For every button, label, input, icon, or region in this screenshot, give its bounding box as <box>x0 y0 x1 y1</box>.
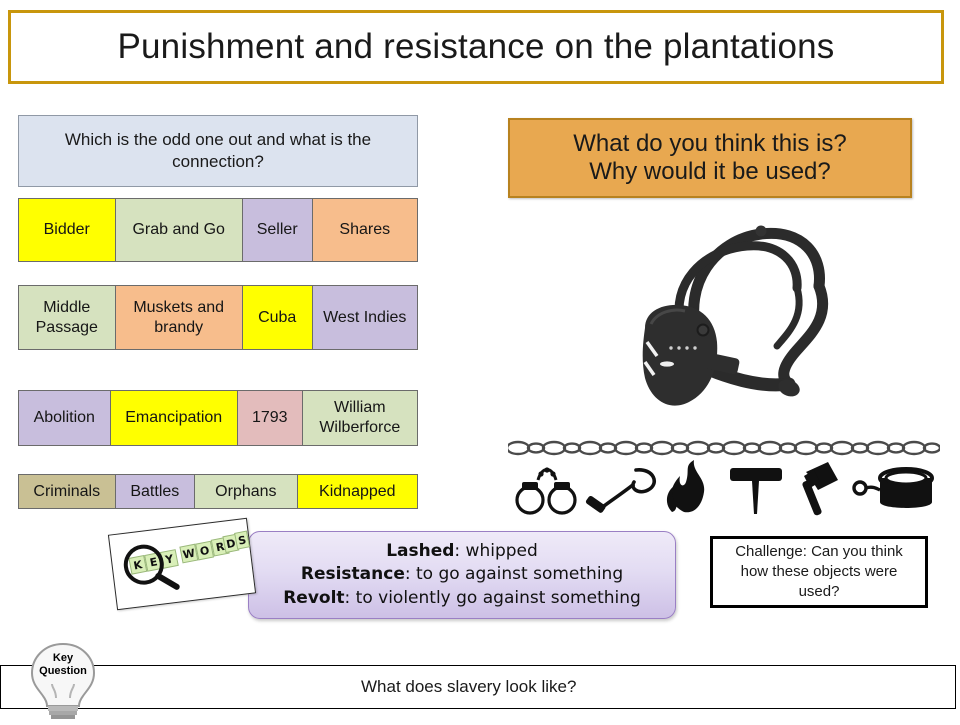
word-cell[interactable]: Middle Passage <box>19 286 116 349</box>
flame-icon <box>667 460 704 512</box>
key-question-badge-line-1: Key <box>26 652 100 665</box>
punishment-objects-row <box>508 458 940 518</box>
artifact-prompt-box: What do you think this is? Why would it … <box>508 118 912 198</box>
iron-slave-mask-photo <box>575 212 905 437</box>
challenge-text: Challenge: Can you think how these objec… <box>721 542 917 601</box>
word-cell[interactable]: Cuba <box>243 286 313 349</box>
keyword-entry-3: Revolt: to violently go against somethin… <box>283 587 641 610</box>
word-grid-row-4: CriminalsBattlesOrphansKidnapped <box>18 474 418 509</box>
key-question-footer-bar: What does slavery look like? <box>0 665 956 709</box>
word-cell[interactable]: Kidnapped <box>298 475 417 508</box>
word-cell[interactable]: Abolition <box>19 391 111 445</box>
svg-text:W: W <box>182 547 196 562</box>
word-cell[interactable]: 1793 <box>238 391 303 445</box>
whip-icon <box>585 470 654 514</box>
key-question-badge: Key Question <box>26 652 100 677</box>
word-cell[interactable]: West Indies <box>313 286 417 349</box>
key-words-definitions-box: Lashed: whipped Resistance: to go agains… <box>248 531 676 619</box>
keyword-term-3: Revolt <box>283 588 344 608</box>
branding-iron-icon <box>730 468 782 514</box>
odd-one-out-question-text: Which is the odd one out and what is the… <box>33 129 403 173</box>
letter-tiles: K E Y W O R D <box>127 531 251 574</box>
key-question-text: What does slavery look like? <box>361 677 576 697</box>
chain-divider <box>508 437 940 459</box>
keyword-definition-3: : to violently go against something <box>345 588 641 608</box>
keyword-entry-2: Resistance: to go against something <box>301 563 623 586</box>
handcuffs-icon <box>517 467 575 513</box>
key-question-badge-line-2: Question <box>26 665 100 678</box>
word-grid-row-1: BidderGrab and GoSellerShares <box>18 198 418 262</box>
word-grid-row-3: AbolitionEmancipation1793William Wilberf… <box>18 390 418 446</box>
key-words-card: K E Y W O R D <box>108 518 256 610</box>
slide-canvas: Punishment and resistance on the plantat… <box>0 0 960 720</box>
word-cell[interactable]: Muskets and brandy <box>116 286 243 349</box>
odd-one-out-question-box: Which is the odd one out and what is the… <box>18 115 418 187</box>
word-cell[interactable]: Battles <box>116 475 196 508</box>
keyword-term-2: Resistance <box>301 564 405 584</box>
word-cell[interactable]: Shares <box>313 199 417 261</box>
word-grid-row-2: Middle PassageMuskets and brandyCubaWest… <box>18 285 418 350</box>
word-cell[interactable]: Criminals <box>19 475 116 508</box>
word-cell[interactable]: William Wilberforce <box>303 391 417 445</box>
challenge-box: Challenge: Can you think how these objec… <box>710 536 928 608</box>
keyword-definition-2: : to go against something <box>405 564 623 584</box>
page-title: Punishment and resistance on the plantat… <box>117 27 834 67</box>
word-cell[interactable]: Orphans <box>195 475 297 508</box>
keyword-definition-1: : whipped <box>454 541 537 561</box>
word-cell[interactable]: Grab and Go <box>116 199 243 261</box>
word-cell[interactable]: Emancipation <box>111 391 238 445</box>
artifact-prompt-line-1: What do you think this is? <box>573 130 846 158</box>
keyword-entry-1: Lashed: whipped <box>386 540 538 563</box>
slide-title-box: Punishment and resistance on the plantat… <box>8 10 944 84</box>
shackle-icon <box>854 469 932 508</box>
keyword-term-1: Lashed <box>386 541 454 561</box>
artifact-prompt-line-2: Why would it be used? <box>589 158 830 186</box>
axe-icon <box>802 462 838 516</box>
word-cell[interactable]: Seller <box>243 199 313 261</box>
word-cell[interactable]: Bidder <box>19 199 116 261</box>
